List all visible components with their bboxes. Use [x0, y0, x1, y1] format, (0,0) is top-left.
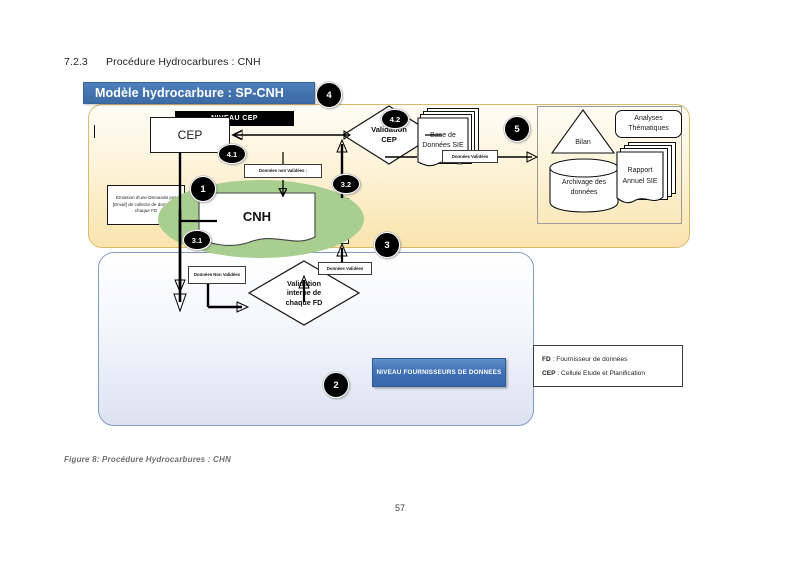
badge-2[interactable]: 2: [323, 372, 349, 398]
badge-4-1[interactable]: 4.1: [218, 144, 246, 164]
badge-4[interactable]: 4: [316, 82, 342, 108]
page-number: 57: [0, 503, 800, 513]
badge-5[interactable]: 5: [504, 116, 530, 142]
label-donnees-non-validees-cep: Données non Validées :: [244, 164, 322, 178]
badge-3-2[interactable]: 3.2: [332, 174, 360, 194]
document-page: 7.2.3Procédure Hydrocarbures : CNH Modèl…: [0, 0, 800, 566]
process-diagram: Modèle hydrocarbure : SP-CNH NIVEAU CEP: [80, 80, 694, 430]
section-title: Procédure Hydrocarbures : CNH: [106, 56, 261, 68]
figure-caption: Figure 8: Procédure Hydrocarbures : CHN: [64, 455, 231, 464]
badge-3[interactable]: 3: [374, 232, 400, 258]
section-heading: 7.2.3Procédure Hydrocarbures : CNH: [64, 56, 261, 68]
label-donnees-validees-fd: Données Validées: [318, 262, 372, 275]
section-number: 7.2.3: [64, 56, 106, 68]
diagram-title-banner: Modèle hydrocarbure : SP-CNH: [83, 82, 315, 104]
badge-3-1[interactable]: 3.1: [183, 230, 211, 250]
label-donnees-non-validees-fd: Données Non Validées: [188, 266, 246, 284]
badge-4-2[interactable]: 4.2: [381, 109, 409, 129]
badge-1[interactable]: 1: [190, 176, 216, 202]
label-donnees-validees-cep: Données Validées: [442, 150, 498, 163]
